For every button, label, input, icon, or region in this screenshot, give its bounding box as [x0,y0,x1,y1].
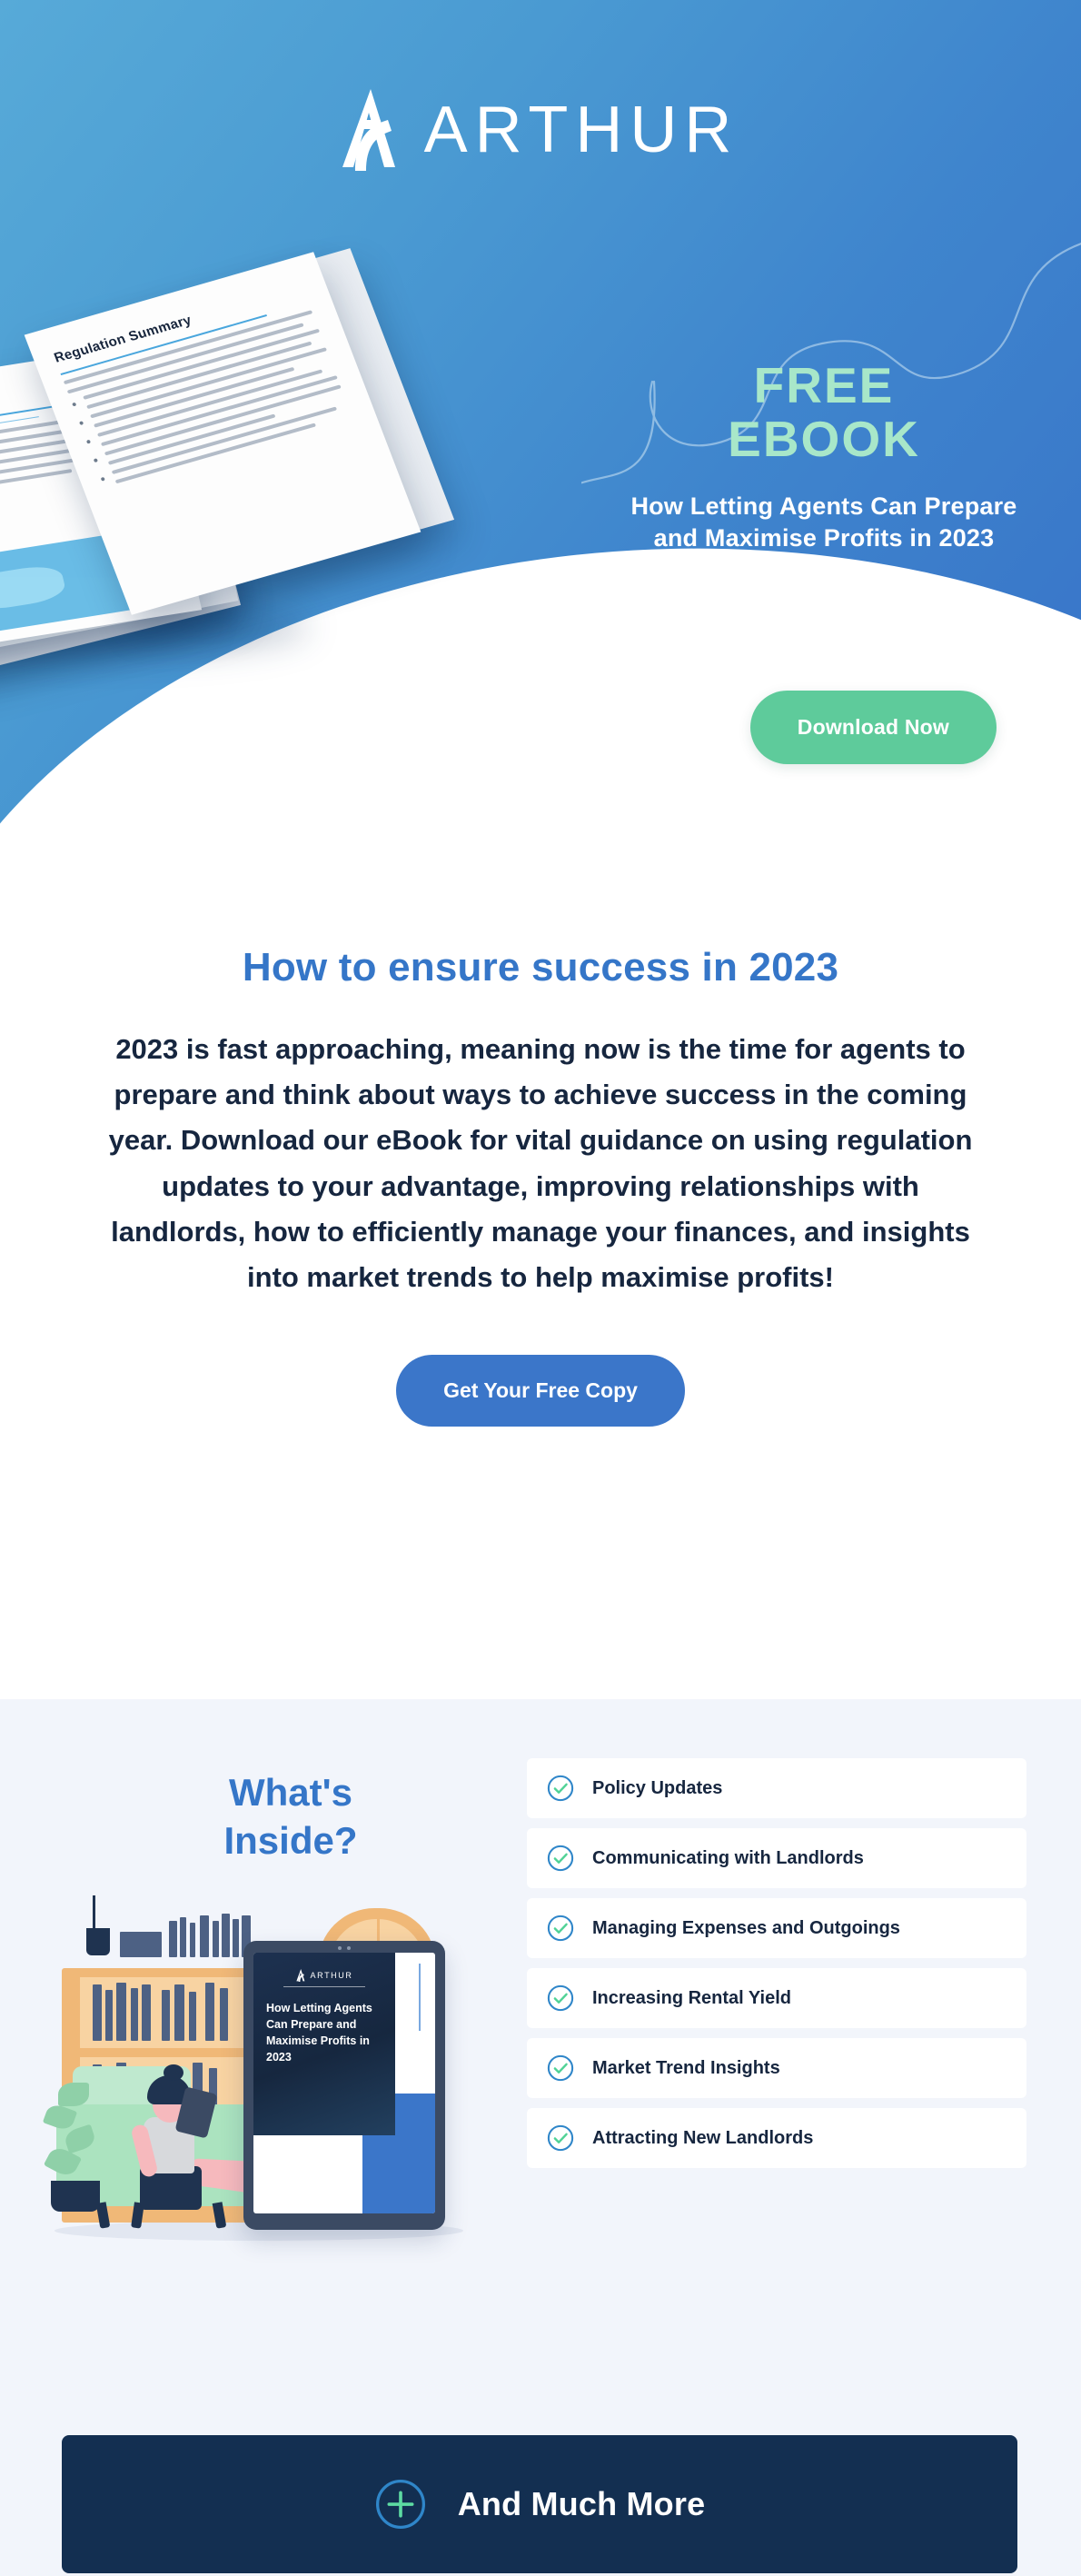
download-now-button[interactable]: Download Now [750,691,997,764]
page-title: How to ensure success in 2023 [0,945,1081,990]
ebook-cover: ARTHUR How Letting Agents Can Prepare an… [253,1953,395,2135]
whats-inside-heading: What's Inside? [55,1769,527,1865]
hero-eyebrow-line2: EBOOK [610,413,1037,466]
list-item[interactable]: Market Trend Insights [527,2038,1026,2098]
whats-inside-left: What's Inside? [55,1749,527,2252]
list-item[interactable]: Increasing Rental Yield [527,1968,1026,2028]
hero-subtitle: How Letting Agents Can Prepare and Maxim… [610,491,1037,555]
get-your-free-copy-button[interactable]: Get Your Free Copy [396,1355,685,1427]
hero-eyebrow: FREE EBOOK [610,359,1037,467]
ebook-cover-logo: ARTHUR [266,1969,382,1982]
hero-section: ARTHUR tes Regulation Summary [0,0,1081,868]
hero-eyebrow-line1: FREE [610,359,1037,413]
whats-inside-heading-line2: Inside? [55,1817,527,1865]
check-circle-icon [547,1845,574,1872]
ebook-cover-brand: ARTHUR [311,1971,353,1980]
ebook-cover-title: How Letting Agents Can Prepare and Maxim… [266,2000,382,2066]
plus-circle-icon [374,2478,427,2531]
feature-label: Attracting New Landlords [592,2126,813,2150]
arthur-a-logo-icon [296,1969,306,1982]
check-circle-icon [547,2054,574,2082]
arthur-a-logo-icon [342,89,402,171]
intro-section: How to ensure success in 2023 2023 is fa… [0,868,1081,1699]
potted-plant-icon [45,2079,109,2211]
intro-paragraph: 2023 is fast approaching, meaning now is… [104,1027,977,1300]
list-item[interactable]: Communicating with Landlords [527,1828,1026,1888]
tablet-device: ARTHUR How Letting Agents Can Prepare an… [243,1941,445,2230]
and-much-more-banner[interactable]: And Much More [62,2435,1017,2573]
ebook-book-illustration: tes Regulation Summary [0,227,472,609]
whats-inside-heading-line1: What's [55,1769,527,1817]
list-item[interactable]: Policy Updates [527,1758,1026,1818]
feature-label: Managing Expenses and Outgoings [592,1916,900,1940]
and-much-more-label: And Much More [458,2485,706,2523]
check-circle-icon [547,1984,574,2012]
check-circle-icon [547,2124,574,2152]
list-item[interactable]: Managing Expenses and Outgoings [527,1898,1026,1958]
list-item[interactable]: Attracting New Landlords [527,2108,1026,2168]
check-circle-icon [547,1775,574,1802]
brand-name: ARTHUR [424,97,739,163]
feature-label: Market Trend Insights [592,2056,780,2080]
feature-list: Policy Updates Communicating with Landlo… [527,1749,1026,2252]
feature-label: Communicating with Landlords [592,1846,864,1870]
feature-label: Increasing Rental Yield [592,1986,791,2010]
hero-copy: FREE EBOOK How Letting Agents Can Prepar… [610,359,1037,555]
whats-inside-section: What's Inside? [0,1699,1081,2576]
feature-label: Policy Updates [592,1776,722,1800]
brand-logo: ARTHUR [0,89,1081,171]
check-circle-icon [547,1915,574,1942]
woman-reading-tablet-illustration: ARTHUR How Letting Agents Can Prepare an… [45,1888,500,2252]
